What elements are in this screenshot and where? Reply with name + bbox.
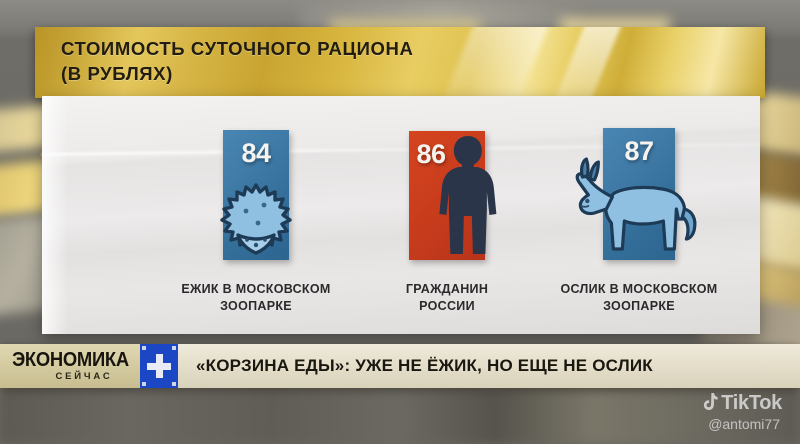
bar-caption-donkey: ОСЛИК В МОСКОВСКОМ ЗООПАРКЕ	[520, 281, 758, 317]
tiktok-label: TikTok	[721, 392, 782, 415]
ticker-headline: «КОРЗИНА ЕДЫ»: УЖЕ НЕ ЁЖИК, НО ЕЩЕ НЕ ОС…	[178, 344, 800, 388]
title-banner: СТОИМОСТЬ СУТОЧНОГО РАЦИОНА (В РУБЛЯХ)	[35, 27, 765, 98]
donkey-icon	[570, 157, 702, 260]
page-title: СТОИМОСТЬ СУТОЧНОГО РАЦИОНА (В РУБЛЯХ)	[35, 27, 765, 86]
bar-value-hedgehog: 84	[223, 138, 289, 169]
bar-caption-donkey-line-1: ОСЛИК В МОСКОВСКОМ	[520, 281, 758, 299]
channel-brand-name: ЭКОНОМИКА	[12, 350, 129, 370]
chart-panel: 84 ЕЖИК В МОСКОВСКОМ ЗОО	[42, 96, 760, 334]
tiktok-note-icon	[700, 393, 718, 414]
news-ticker: ЭКОНОМИКА СЕЙЧАС «КОРЗИНА ЕДЫ»: УЖЕ НЕ Ё…	[0, 344, 800, 388]
bar-group-donkey: 87	[520, 96, 758, 334]
cross-plus-icon	[140, 344, 178, 388]
hedgehog-icon	[213, 181, 299, 260]
tiktok-watermark: TikTok @antomi77	[700, 392, 782, 432]
channel-brand: ЭКОНОМИКА СЕЙЧАС	[0, 344, 140, 388]
tiktok-handle: @antomi77	[700, 416, 780, 432]
page-title-line-1: СТОИМОСТЬ СУТОЧНОГО РАЦИОНА	[61, 37, 765, 62]
person-icon	[439, 136, 497, 260]
background-bottom-strip	[0, 388, 800, 444]
page-title-line-2: (В РУБЛЯХ)	[61, 62, 765, 87]
channel-brand-tagline: СЕЙЧАС	[56, 371, 113, 382]
bar-chart: 84 ЕЖИК В МОСКОВСКОМ ЗОО	[42, 96, 760, 334]
bar-caption-donkey-line-2: ЗООПАРКЕ	[520, 298, 758, 316]
